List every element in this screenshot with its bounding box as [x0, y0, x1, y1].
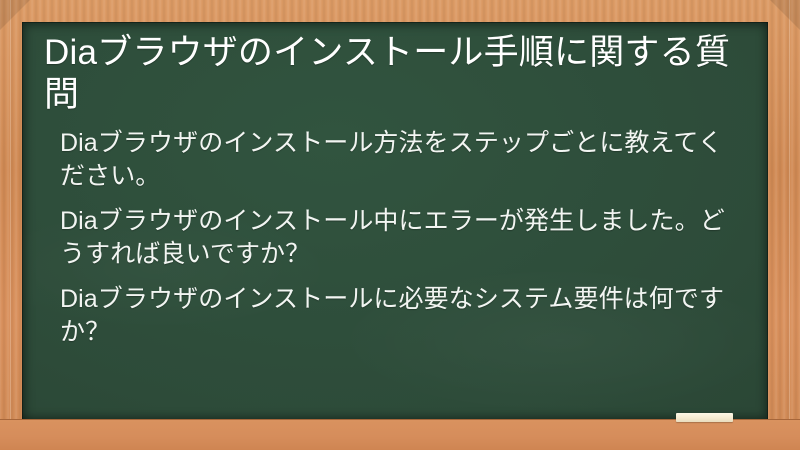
question-list: Diaブラウザのインストール方法をステップごとに教えてください。 Diaブラウザ…	[34, 127, 742, 348]
list-item: Diaブラウザのインストールに必要なシステム要件は何ですか？	[60, 283, 738, 348]
frame-plank-edge-right	[789, 0, 790, 450]
list-item: Diaブラウザのインストール方法をステップごとに教えてください。	[60, 127, 738, 192]
chalkboard-scene: Diaブラウザのインストール手順に関する質問 Diaブラウザのインストール方法を…	[0, 0, 800, 450]
chalk-stick-icon	[676, 413, 733, 422]
chalk-ledge	[0, 419, 800, 450]
frame-plank-edge-left	[10, 0, 11, 450]
list-item: Diaブラウザのインストール中にエラーが発生しました。どうすれば良いですか？	[60, 205, 738, 270]
chalkboard-surface: Diaブラウザのインストール手順に関する質問 Diaブラウザのインストール方法を…	[22, 22, 768, 420]
page-title: Diaブラウザのインストール手順に関する質問	[34, 32, 742, 115]
